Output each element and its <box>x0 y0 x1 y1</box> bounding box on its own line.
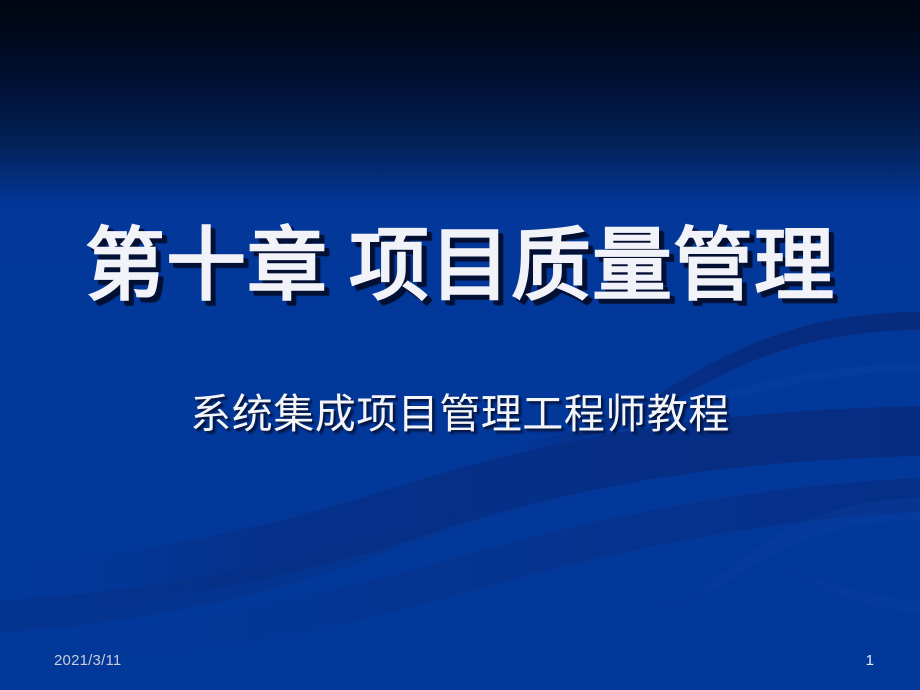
subtitle-container: 系统集成项目管理工程师教程 <box>0 392 920 437</box>
slide-title: 第十章 项目质量管理 <box>85 225 835 310</box>
footer-date: 2021/3/11 <box>54 652 121 669</box>
background-swoosh-decoration <box>0 0 920 690</box>
footer-page-number: 1 <box>866 652 874 669</box>
title-container: 第十章 项目质量管理 <box>0 225 920 310</box>
slide-subtitle: 系统集成项目管理工程师教程 <box>190 392 730 437</box>
presentation-slide: 第十章 项目质量管理 系统集成项目管理工程师教程 2021/3/11 1 <box>0 0 920 690</box>
